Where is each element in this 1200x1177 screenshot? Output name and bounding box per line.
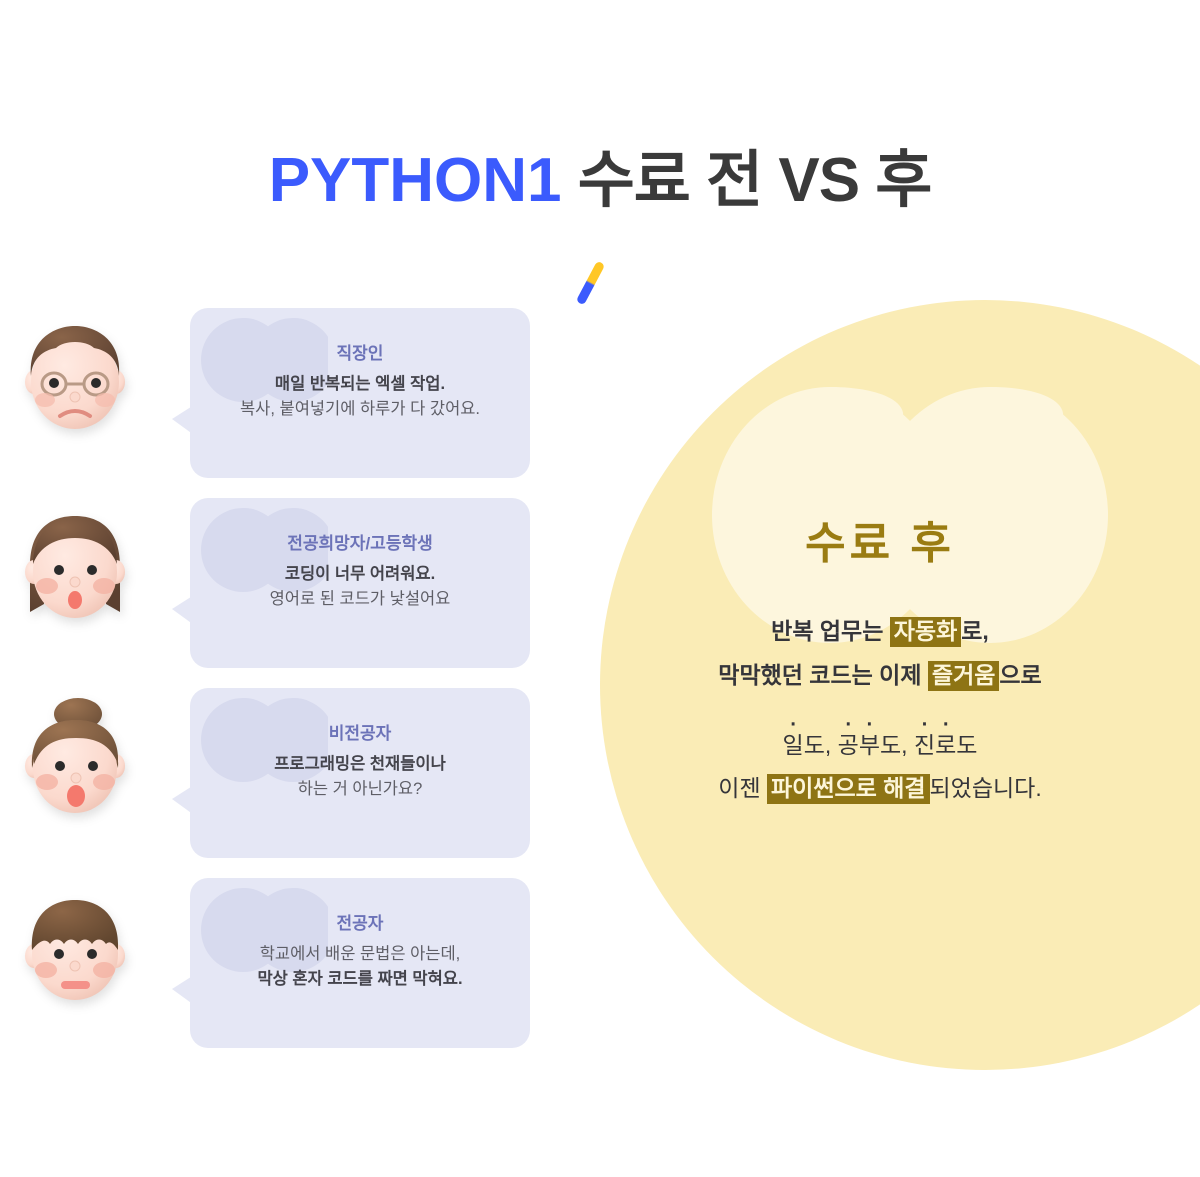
bubble-tail	[172, 785, 194, 815]
after-line-1-highlight: 자동화	[890, 617, 961, 647]
after-line-3-p8: 도	[956, 732, 977, 758]
before-section: 직장인 매일 반복되는 엑셀 작업. 복사, 붙여넣기에 하루가 다 갔어요.	[0, 0, 560, 1177]
after-line-1: 반복 업무는 자동화로,	[560, 610, 1200, 654]
after-line-4-highlight: 파이썬으로 해결	[767, 774, 930, 804]
bubble-tail	[172, 405, 194, 435]
after-line-4-post: 되었습니다.	[930, 775, 1042, 801]
bubble-label: 비전공자	[204, 722, 516, 747]
after-section: 수료 후 반복 업무는 자동화로, 막막했던 코드는 이제 즐거움으로 일도, …	[560, 0, 1200, 1177]
bubble-line-2: 영어로 된 코드가 낯설어요	[204, 587, 516, 613]
after-heading: 수료 후	[560, 520, 1200, 568]
after-line-3-p1: 일	[783, 732, 804, 758]
testimonial-bubble: 전공자 학교에서 배운 문법은 아는데, 막상 혼자 코드를 짜면 막혀요.	[190, 878, 530, 1048]
bubble-label: 전공희망자/고등학생	[204, 532, 516, 557]
after-line-3-p5: 도,	[880, 732, 914, 758]
bubble-line-1: 코딩이 너무 어려워요.	[204, 562, 516, 588]
testimonial-bubble: 비전공자 프로그래밍은 천재들이나 하는 거 아닌가요?	[190, 688, 530, 858]
female-student-long-hair-face-icon	[14, 508, 136, 630]
bubble-label: 전공자	[204, 912, 516, 937]
bubble-line-2: 하는 거 아닌가요?	[204, 777, 516, 803]
after-line-3-p4: 부	[859, 732, 880, 758]
after-line-3-p3: 공	[838, 732, 859, 758]
after-line-4: 이젠 파이썬으로 해결되었습니다.	[560, 767, 1200, 811]
testimonial-row: 직장인 매일 반복되는 엑셀 작업. 복사, 붙여넣기에 하루가 다 갔어요.	[0, 300, 560, 490]
testimonial-row: 비전공자 프로그래밍은 천재들이나 하는 거 아닌가요?	[0, 680, 560, 870]
woman-hair-bun-surprised-face-icon	[14, 698, 136, 820]
spacer	[560, 698, 1200, 724]
testimonial-bubble: 전공희망자/고등학생 코딩이 너무 어려워요. 영어로 된 코드가 낯설어요	[190, 498, 530, 668]
after-line-3-p2: 도,	[804, 732, 838, 758]
after-line-3-p6: 진	[914, 732, 935, 758]
bubble-line-1: 매일 반복되는 엑셀 작업.	[204, 372, 516, 398]
after-line-2-pre: 막막했던 코드는 이제	[718, 662, 928, 688]
after-line-4-pre: 이젠	[718, 775, 767, 801]
after-line-3-p7: 로	[935, 732, 956, 758]
after-line-2-post: 으로	[999, 662, 1041, 688]
testimonial-bubble: 직장인 매일 반복되는 엑셀 작업. 복사, 붙여넣기에 하루가 다 갔어요.	[190, 308, 530, 478]
young-man-short-hair-face-icon	[14, 888, 136, 1010]
bubble-label: 직장인	[204, 342, 516, 367]
after-line-2: 막막했던 코드는 이제 즐거움으로	[560, 654, 1200, 698]
testimonial-row: 전공희망자/고등학생 코딩이 너무 어려워요. 영어로 된 코드가 낯설어요	[0, 490, 560, 680]
bubble-line-2: 복사, 붙여넣기에 하루가 다 갔어요.	[204, 397, 516, 423]
bubble-line-1: 학교에서 배운 문법은 아는데,	[204, 942, 516, 968]
office-worker-face-glasses-frowning-icon	[14, 318, 136, 440]
bubble-line-2: 막상 혼자 코드를 짜면 막혀요.	[204, 967, 516, 993]
after-line-1-pre: 반복 업무는	[771, 618, 890, 644]
bubble-line-1: 프로그래밍은 천재들이나	[204, 752, 516, 778]
after-line-2-highlight: 즐거움	[928, 661, 999, 691]
after-line-3: 일도, 공부도, 진로도	[560, 724, 1200, 768]
testimonial-row: 전공자 학교에서 배운 문법은 아는데, 막상 혼자 코드를 짜면 막혀요.	[0, 870, 560, 1060]
after-line-1-post: 로,	[961, 618, 989, 644]
bubble-tail	[172, 595, 194, 625]
bubble-tail	[172, 975, 194, 1005]
